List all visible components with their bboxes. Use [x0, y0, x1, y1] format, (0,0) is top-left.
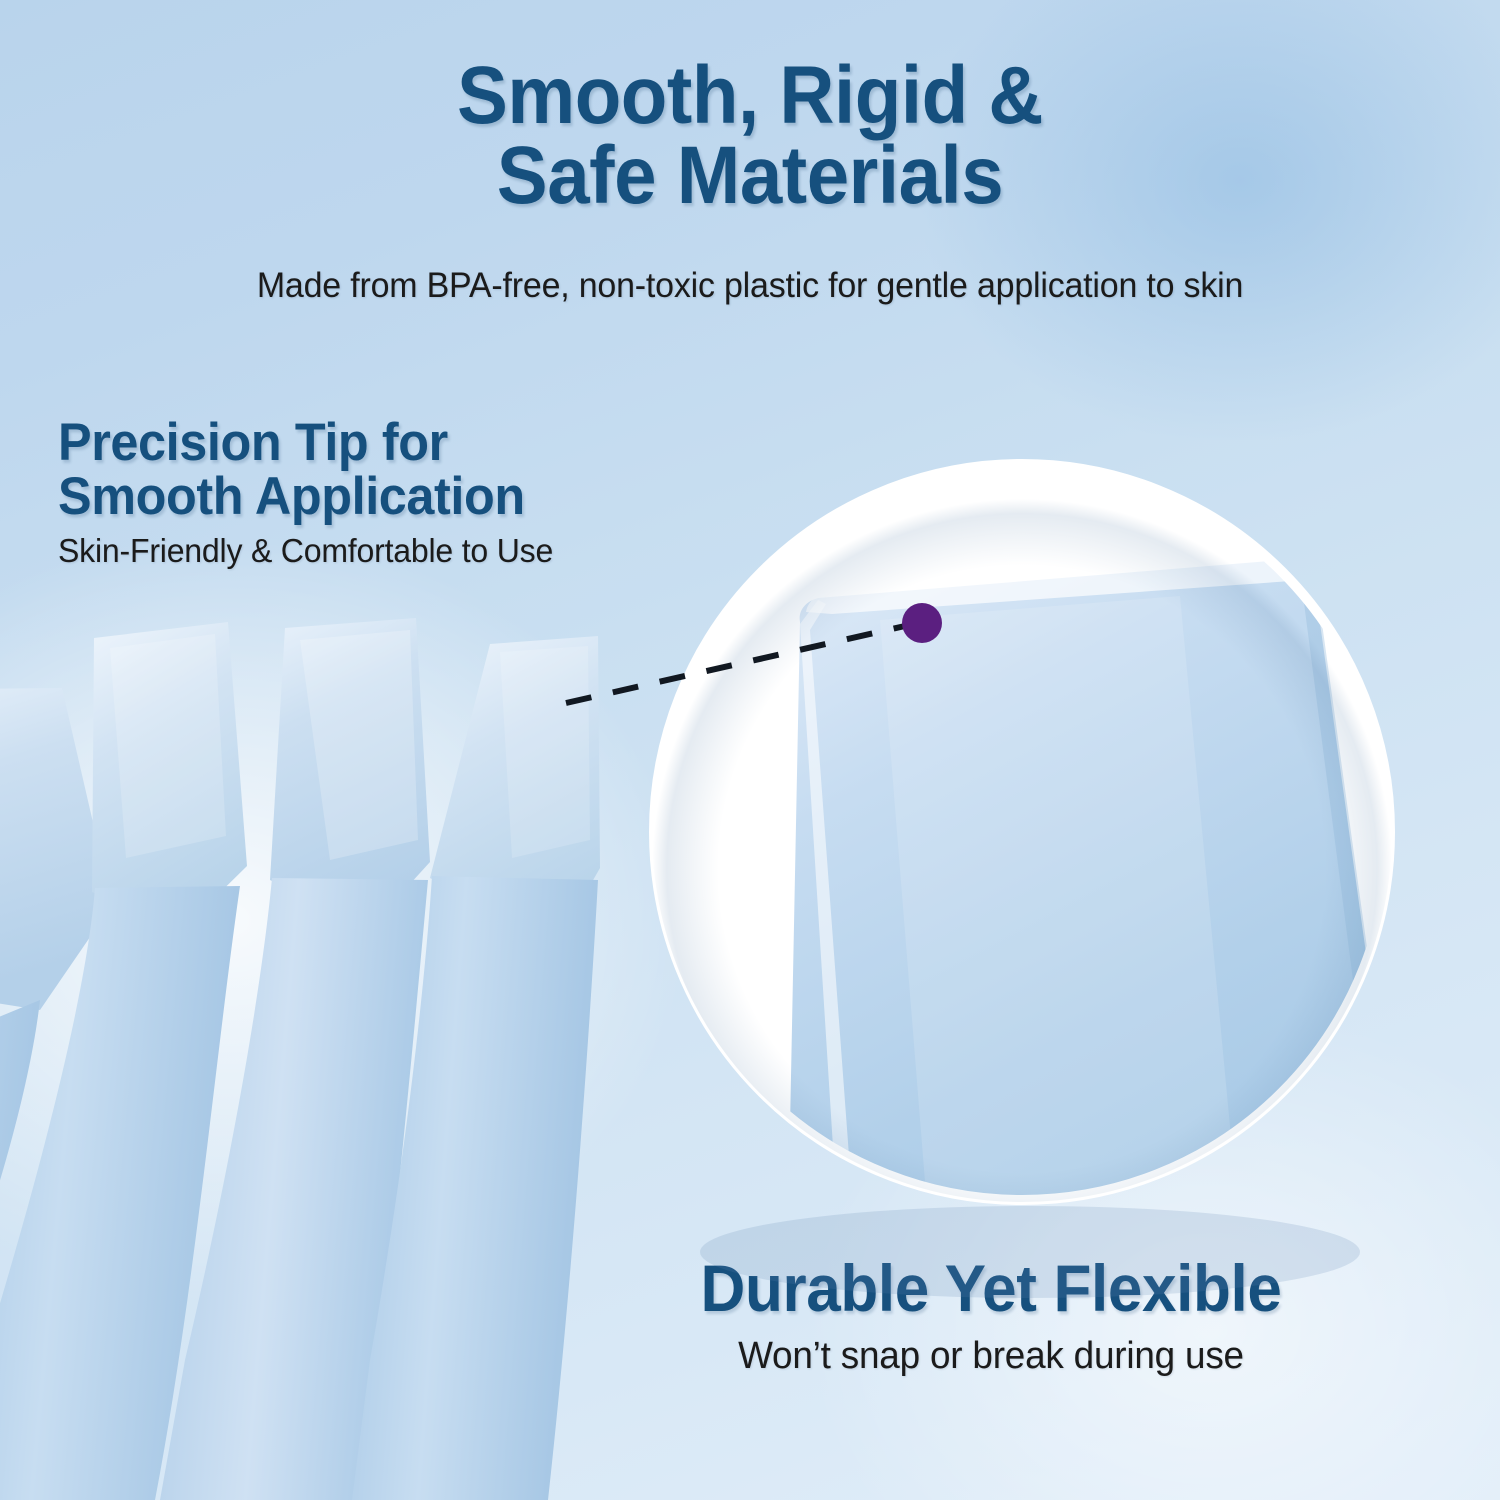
closeup-lens	[654, 464, 1390, 1200]
page-title-line1: Smooth, Rigid &	[457, 50, 1043, 141]
feature-subheading-precision-tip: Skin-Friendly & Comfortable to Use	[58, 532, 737, 570]
spatula-2	[0, 622, 247, 1500]
background-glow-bottom-right	[800, 1000, 1500, 1500]
dashed-connector-line	[566, 626, 905, 703]
spatula-1	[0, 688, 112, 1500]
infographic-canvas: Smooth, Rigid & Safe Materials Made from…	[0, 0, 1500, 1500]
feature-subheading-durable-flexible: Won’t snap or break during use	[554, 1335, 1429, 1378]
spatula-3	[160, 618, 430, 1500]
page-subtitle: Made from BPA-free, non-toxic plastic fo…	[23, 266, 1478, 306]
magnified-blade	[788, 556, 1395, 1273]
feature-block-precision-tip: Precision Tip for Smooth Application Ski…	[58, 416, 758, 570]
precision-tip-marker-dot	[902, 603, 942, 643]
background-glow-left	[0, 540, 680, 1300]
feature-heading-line2: Smooth Application	[58, 470, 723, 524]
feature-heading-line1: Precision Tip for	[58, 413, 448, 472]
feature-heading-precision-tip: Precision Tip for Smooth Application	[58, 416, 723, 524]
feature-heading-durable-flexible: Durable Yet Flexible	[567, 1255, 1415, 1321]
feature-block-durable-flexible: Durable Yet Flexible Won’t snap or break…	[540, 1255, 1442, 1378]
page-title-line2: Safe Materials	[53, 136, 1448, 216]
page-title: Smooth, Rigid & Safe Materials	[53, 56, 1448, 217]
